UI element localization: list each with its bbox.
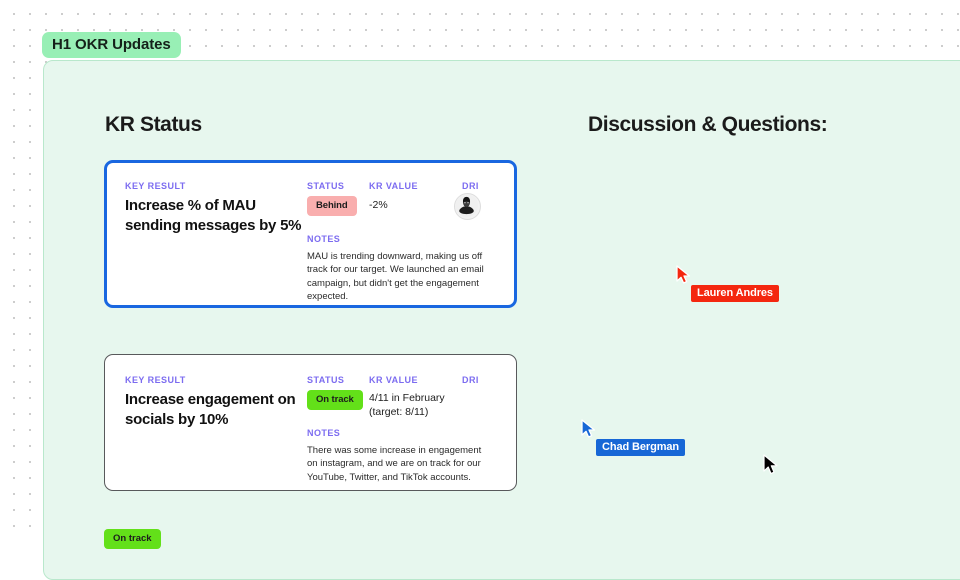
cursor-arrow-icon [676,265,692,285]
kr-card-selected[interactable]: KEY RESULT Increase % of MAU sending mes… [104,160,517,308]
column-label-dri: DRI [462,181,479,191]
cursor-arrow-icon [581,419,597,439]
column-label-status: STATUS [307,181,344,191]
discussion-questions-heading: Discussion & Questions: [588,113,827,137]
status-badge[interactable]: Behind [307,196,357,216]
kr-notes: There was some increase in engagement on… [307,444,489,484]
column-label-kr-value: KR VALUE [369,375,418,385]
column-label-key-result: KEY RESULT [125,375,186,385]
column-label-key-result: KEY RESULT [125,181,186,191]
column-label-status: STATUS [307,375,344,385]
column-label-notes: NOTES [307,428,340,438]
kr-notes: MAU is trending downward, making us off … [307,250,489,304]
kr-title: Increase engagement on socials by 10% [125,390,305,430]
dri-avatar[interactable] [454,193,481,220]
kr-card[interactable]: KEY RESULT Increase engagement on social… [104,354,517,491]
kr-title: Increase % of MAU sending messages by 5% [125,196,305,236]
status-badge[interactable]: On track [307,390,363,410]
column-label-kr-value: KR VALUE [369,181,418,191]
status-badge-partial[interactable]: On track [104,529,161,549]
slide-panel[interactable]: KR Status Discussion & Questions: KEY RE… [43,60,960,580]
system-mouse-pointer-icon [763,454,779,476]
column-label-dri: DRI [462,375,479,385]
slide-title-badge[interactable]: H1 OKR Updates [42,32,181,58]
kr-status-heading: KR Status [105,113,202,137]
collaborator-name-tag: Chad Bergman [596,439,685,456]
kr-value: -2% [369,198,388,212]
kr-value: 4/11 in February (target: 8/11) [369,391,445,419]
collaborator-name-tag: Lauren Andres [691,285,779,302]
column-label-notes: NOTES [307,234,340,244]
